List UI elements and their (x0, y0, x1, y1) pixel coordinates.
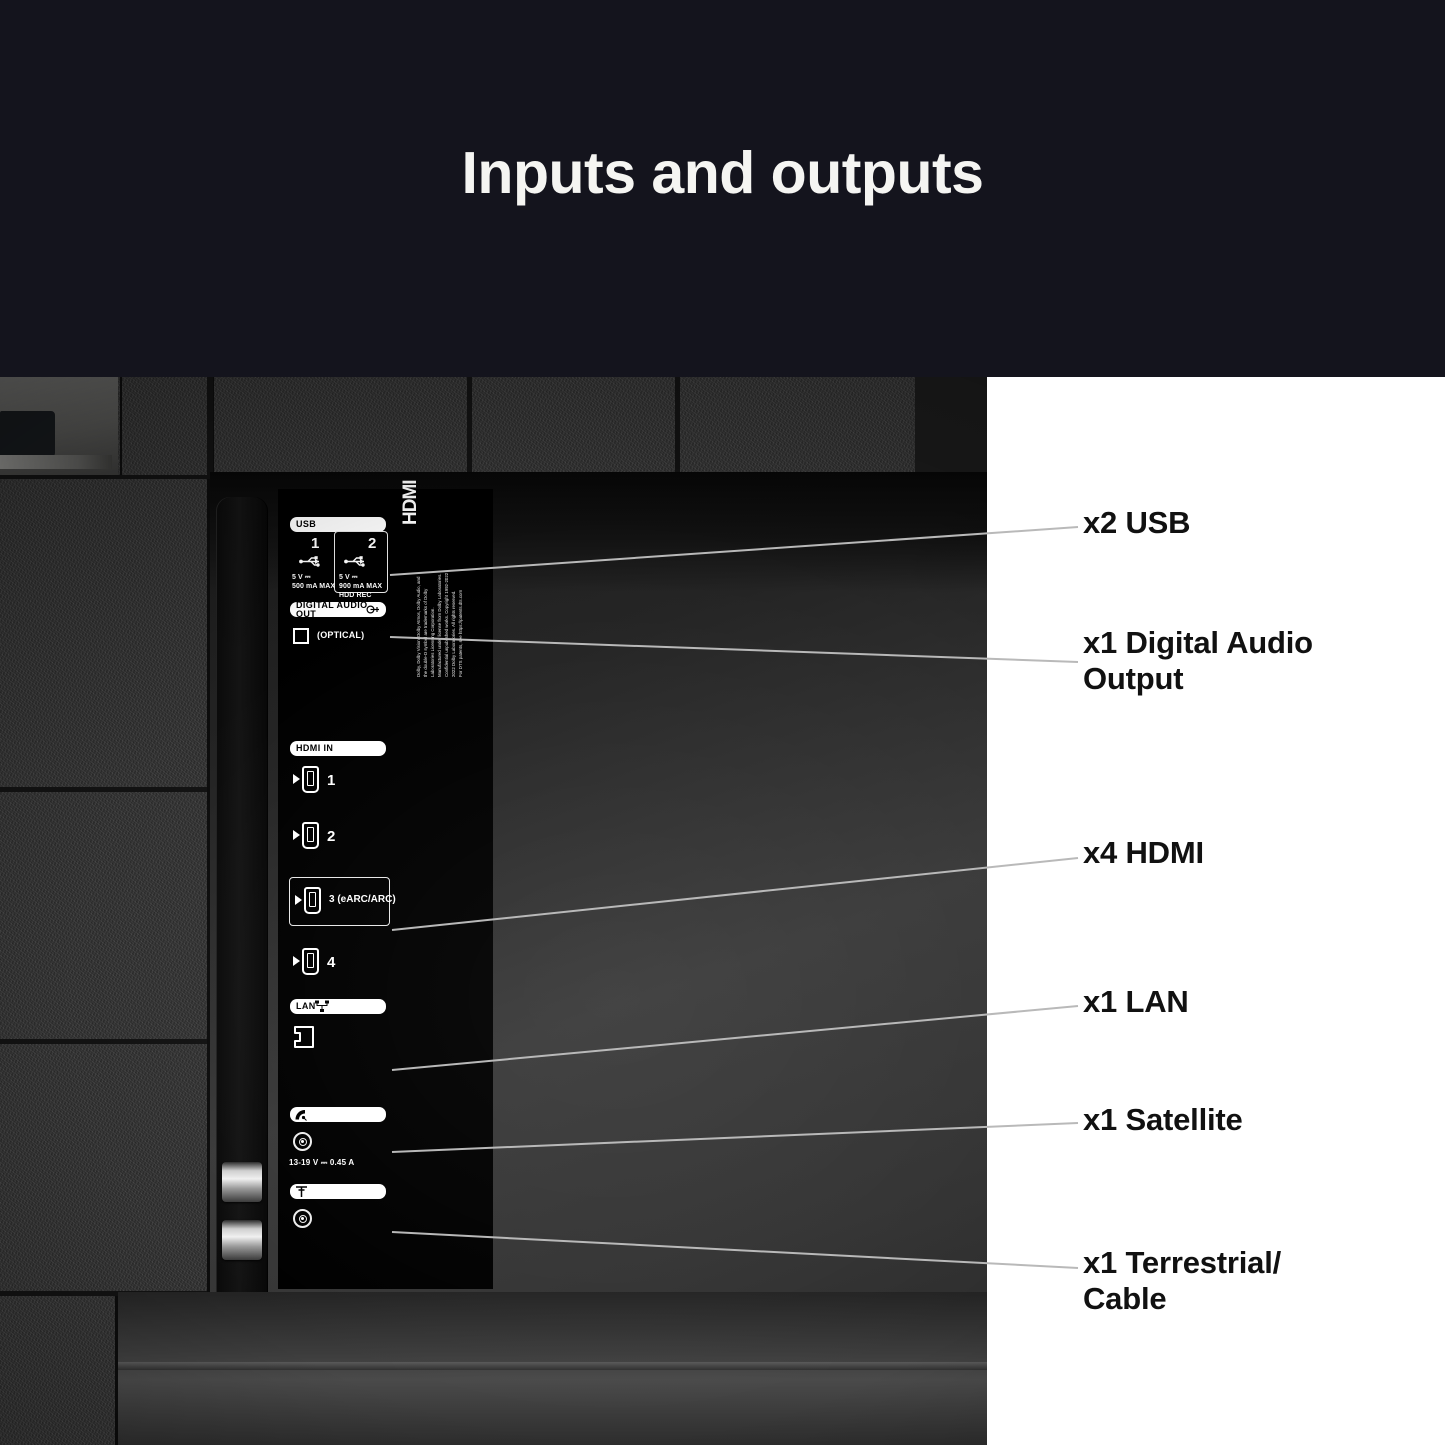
legal-fineprint-line: Laboratories Licensing Corporation. (431, 607, 436, 677)
wall-seam (0, 787, 207, 792)
cable-routing-channel (216, 497, 268, 1402)
legal-fineprint-line: the double-D symbol are trademarks of Do… (424, 589, 429, 677)
wall-tile (122, 377, 212, 477)
shelf-edge (118, 1362, 987, 1370)
hdmi-wordmark: HDMI (400, 480, 422, 525)
hdmi-arrow-icon (293, 774, 300, 784)
legal-fineprint-line: 2022 Dolby Laboratories. All rights rese… (452, 591, 457, 677)
optical-label: (OPTICAL) (317, 630, 364, 640)
tv-bezel-highlight (0, 455, 112, 469)
usb1-rating: 5 V ⎓ 500 mA MAX (292, 574, 335, 592)
callout-lan: x1 LAN (1083, 984, 1189, 1020)
hdmi3-number: 3 (eARC/ARC) (329, 894, 396, 905)
lan-header-label: LAN (290, 999, 386, 1014)
callout-hdmi: x4 HDMI (1083, 835, 1204, 871)
hdmi-legal-block: HDMI Dolby, Dolby Vision, Dolby Atmos, D… (395, 505, 491, 680)
legal-fineprint-line: Manufactured under license from Dolby La… (438, 574, 443, 677)
cable-clip (222, 1220, 262, 1260)
terrestrial-coax-jack (293, 1209, 312, 1228)
hdmi-arrow-icon (293, 956, 300, 966)
wall-seam (675, 377, 680, 477)
callout-audio: x1 Digital Audio Output (1083, 625, 1313, 697)
callout-panel: x2 USB x1 Digital Audio Output x4 HDMI x… (987, 377, 1445, 1445)
hdmi2-number: 2 (327, 828, 335, 845)
hdmi1-number: 1 (327, 772, 335, 789)
wall-seam (467, 377, 472, 477)
wall-tile (471, 377, 677, 477)
usb-header-label: USB (290, 517, 386, 532)
satellite-coax-jack (293, 1132, 312, 1151)
wall-seam (207, 377, 213, 477)
hdmi-arrow-icon (293, 830, 300, 840)
legal-fineprint-line: Confidential unpublished works. Copyrigh… (445, 573, 450, 677)
legal-fineprint-line: Dolby, Dolby Vision, Dolby Atmos, Dolby … (417, 577, 422, 677)
hdmi-header-label: HDMI IN (290, 741, 386, 756)
callout-terrestrial: x1 Terrestrial/ Cable (1083, 1245, 1281, 1317)
wall-tile (0, 1295, 115, 1445)
hdmi4-number: 4 (327, 954, 335, 971)
usb2-rating: 5 V ⎓ 900 mA MAX HDD REC (339, 574, 382, 600)
callout-satellite: x1 Satellite (1083, 1102, 1243, 1138)
tv-stand-notch (0, 411, 55, 457)
antenna-icon (295, 1185, 308, 1198)
hdmi-port-glyph (304, 887, 321, 914)
usb-icon (299, 555, 325, 568)
optical-out-icon (366, 604, 380, 615)
wall-tile (0, 791, 207, 1041)
hdmi-port-glyph (302, 822, 319, 849)
lan-port-glyph (293, 1024, 317, 1050)
callout-usb: x2 USB (1083, 505, 1190, 541)
hdmi-port-glyph (302, 948, 319, 975)
satellite-dish-icon (294, 1108, 308, 1121)
wall-tile (0, 479, 207, 789)
wall-dark-column (915, 377, 987, 477)
wall-tile (0, 1043, 207, 1293)
legal-fineprint-line: For DTS patents, see https://patents.dts… (459, 590, 464, 677)
screenshot-root: Inputs and outputs (0, 0, 1445, 1445)
usb-icon (344, 555, 370, 568)
lan-network-icon (314, 1000, 330, 1013)
hdmi-port-glyph (302, 766, 319, 793)
wall-seam (0, 1039, 207, 1044)
cable-clip (222, 1162, 262, 1202)
wall-tile (679, 377, 915, 477)
satellite-power-rating: 13-19 V ⎓ 0.45 A (289, 1158, 354, 1168)
page-title: Inputs and outputs (0, 139, 1445, 207)
hdmi-arrow-icon (295, 895, 302, 905)
usb1-number: 1 (311, 535, 319, 552)
wall-tile (214, 377, 469, 477)
optical-port-glyph (293, 628, 309, 644)
product-photo: USB 1 2 5 V ⎓ 500 m (0, 377, 987, 1445)
title-banner: Inputs and outputs (0, 0, 1445, 377)
